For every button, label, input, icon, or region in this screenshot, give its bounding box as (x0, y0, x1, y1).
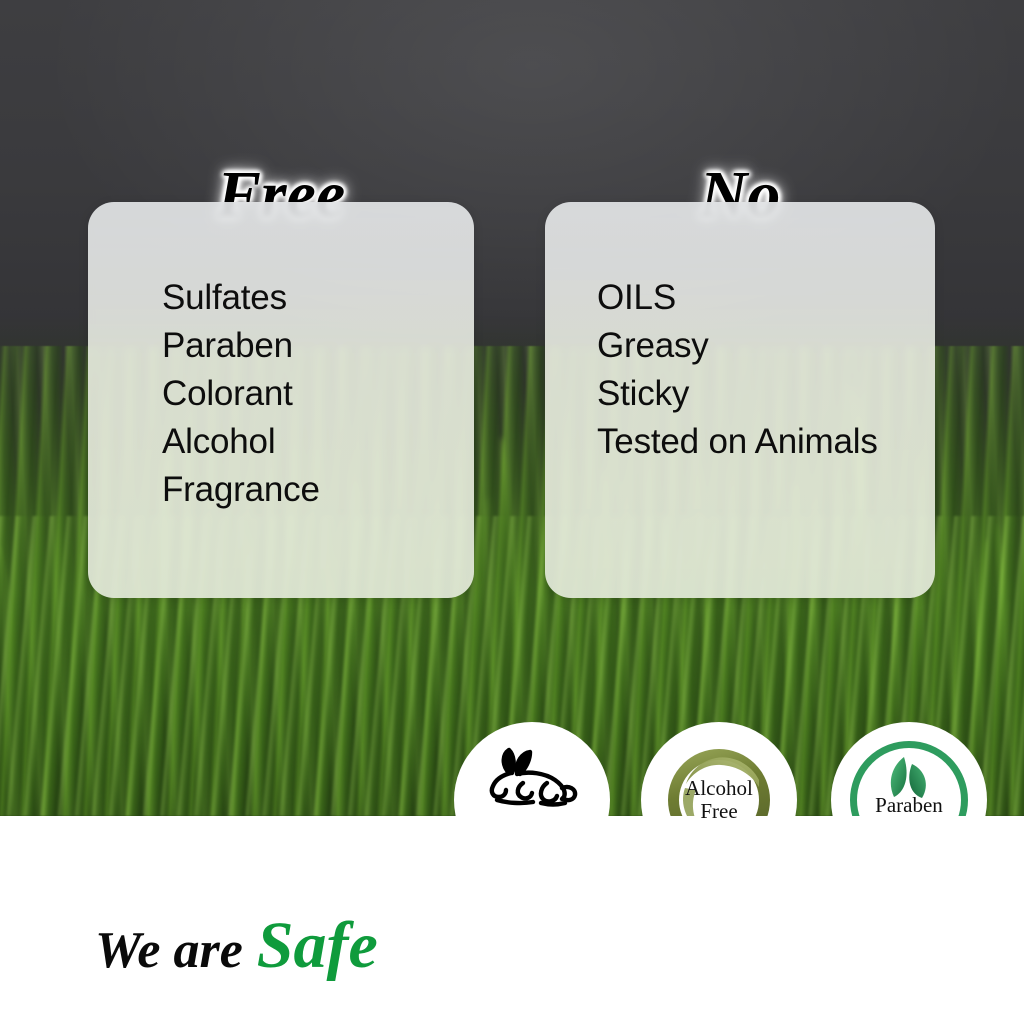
list-item: Fragrance (162, 466, 320, 514)
free-list: Sulfates Paraben Colorant Alcohol Fragra… (162, 274, 320, 514)
list-item: Tested on Animals (597, 418, 878, 466)
list-item: OILS (597, 274, 878, 322)
tagline: We areSafe (95, 908, 378, 984)
list-item: Colorant (162, 370, 320, 418)
badge-alcohol-label: Alcohol Free (685, 777, 753, 823)
poster-canvas: Free Sulfates Paraben Colorant Alcohol F… (0, 0, 1024, 1024)
list-item: Greasy (597, 322, 878, 370)
card-no: OILS Greasy Sticky Tested on Animals (545, 202, 935, 598)
no-list: OILS Greasy Sticky Tested on Animals (597, 274, 878, 466)
list-item: Sticky (597, 370, 878, 418)
badge-alcohol-line1: Alcohol (685, 777, 753, 800)
list-item: Sulfates (162, 274, 320, 322)
leaping-bunny-icon (473, 747, 591, 814)
footer-strip: We areSafe (0, 816, 1024, 1024)
tagline-prefix: We are (95, 922, 243, 979)
tagline-accent: Safe (257, 909, 378, 982)
card-free: Sulfates Paraben Colorant Alcohol Fragra… (88, 202, 474, 598)
list-item: Alcohol (162, 418, 320, 466)
list-item: Paraben (162, 322, 320, 370)
green-leaves-icon (878, 754, 940, 800)
badge-alcohol-line2: Free (685, 800, 753, 823)
